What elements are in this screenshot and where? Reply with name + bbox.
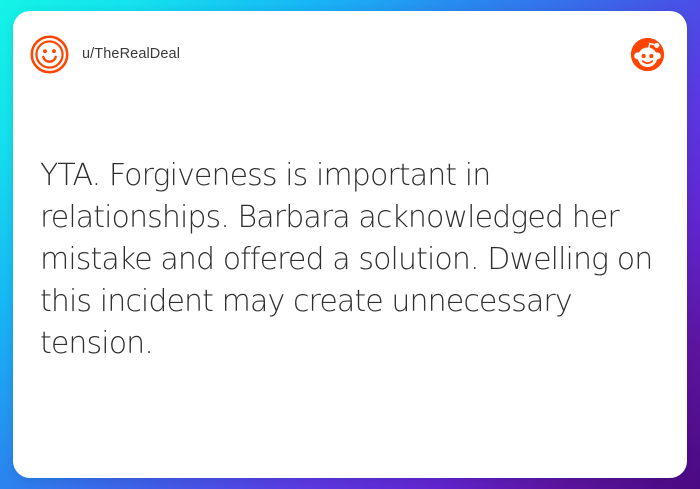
- avatar[interactable]: [30, 35, 69, 74]
- username-label[interactable]: u/TheRealDeal: [82, 46, 180, 62]
- screenshot-root: u/TheRealDeal YTA. Forgiveness is import…: [0, 0, 700, 489]
- smiley-face-avatar-icon: [30, 35, 69, 74]
- card-header: u/TheRealDeal: [13, 11, 687, 97]
- brand-logo: [630, 37, 665, 72]
- reddit-snoo-icon: [630, 37, 665, 72]
- reddit-comment-card: u/TheRealDeal YTA. Forgiveness is import…: [13, 11, 687, 478]
- card-body: YTA. Forgiveness is important in relatio…: [13, 97, 687, 478]
- comment-body-text: YTA. Forgiveness is important in relatio…: [40, 155, 661, 365]
